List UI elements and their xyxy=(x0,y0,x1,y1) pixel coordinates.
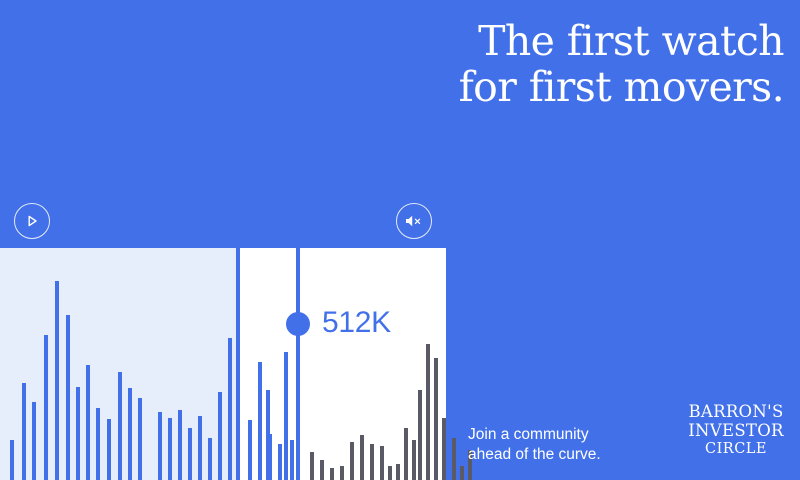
chart-bar xyxy=(310,452,314,480)
tagline: Join a community ahead of the curve. xyxy=(468,425,601,465)
page-title: The first watch for first movers. xyxy=(360,18,784,110)
chart-bar xyxy=(138,398,142,480)
chart-bar xyxy=(198,416,202,480)
chart-bar xyxy=(228,338,232,480)
marker-stem xyxy=(296,247,300,480)
mute-icon xyxy=(405,214,423,228)
chart-bar xyxy=(330,468,334,480)
chart-bar xyxy=(434,358,438,480)
chart-bar xyxy=(128,388,132,480)
marker-dot[interactable] xyxy=(286,312,310,336)
chart-bar xyxy=(258,362,262,480)
chart-bar xyxy=(86,365,90,480)
promo-banner: The first watch for first movers. 512K J… xyxy=(0,0,800,480)
chart-bar xyxy=(452,438,456,480)
chart-bar xyxy=(370,444,374,480)
bar-chart: 512K xyxy=(0,248,446,480)
chart-bar xyxy=(340,466,344,480)
barrons-investor-circle-logo: BARRON'S INVESTOR CIRCLE xyxy=(684,402,788,459)
chart-bar xyxy=(404,428,408,480)
chart-bar xyxy=(418,390,422,480)
chart-bar xyxy=(290,440,294,480)
chart-bar xyxy=(320,460,324,480)
chart-bar xyxy=(178,410,182,480)
play-button[interactable] xyxy=(14,203,50,239)
chart-bar xyxy=(208,438,212,480)
chart-bar xyxy=(248,420,252,480)
chart-bar xyxy=(426,344,430,480)
chart-bar xyxy=(118,372,122,480)
chart-bar xyxy=(278,444,282,480)
logo-line-1: BARRON'S xyxy=(684,402,788,421)
chart-bar xyxy=(412,440,416,480)
chart-bar xyxy=(380,446,384,480)
chart-bar xyxy=(158,412,162,480)
chart-bar xyxy=(188,428,192,480)
chart-bar xyxy=(76,387,80,480)
chart-bar xyxy=(10,440,14,480)
chart-bar xyxy=(396,464,400,480)
chart-bar xyxy=(55,281,59,480)
mute-button[interactable] xyxy=(396,203,432,239)
chart-bar xyxy=(44,335,48,480)
chart-bar xyxy=(360,435,364,480)
chart-bar xyxy=(218,392,222,480)
chart-bar xyxy=(66,315,70,480)
chart-bar xyxy=(96,408,100,480)
chart-bar xyxy=(107,419,111,480)
logo-line-2: INVESTOR xyxy=(684,421,788,440)
chart-bar xyxy=(22,383,26,480)
chart-bar xyxy=(388,466,392,480)
chart-bar xyxy=(460,466,464,480)
logo-line-3: CIRCLE xyxy=(684,440,788,459)
chart-bar xyxy=(350,442,354,480)
marker-value-label: 512K xyxy=(322,308,391,338)
play-icon xyxy=(25,214,39,228)
chart-bar xyxy=(168,418,172,480)
chart-bar xyxy=(32,402,36,480)
chart-bar xyxy=(266,390,270,480)
chart-bar xyxy=(284,352,288,480)
chart-divider xyxy=(236,248,240,480)
chart-bar xyxy=(442,418,446,480)
